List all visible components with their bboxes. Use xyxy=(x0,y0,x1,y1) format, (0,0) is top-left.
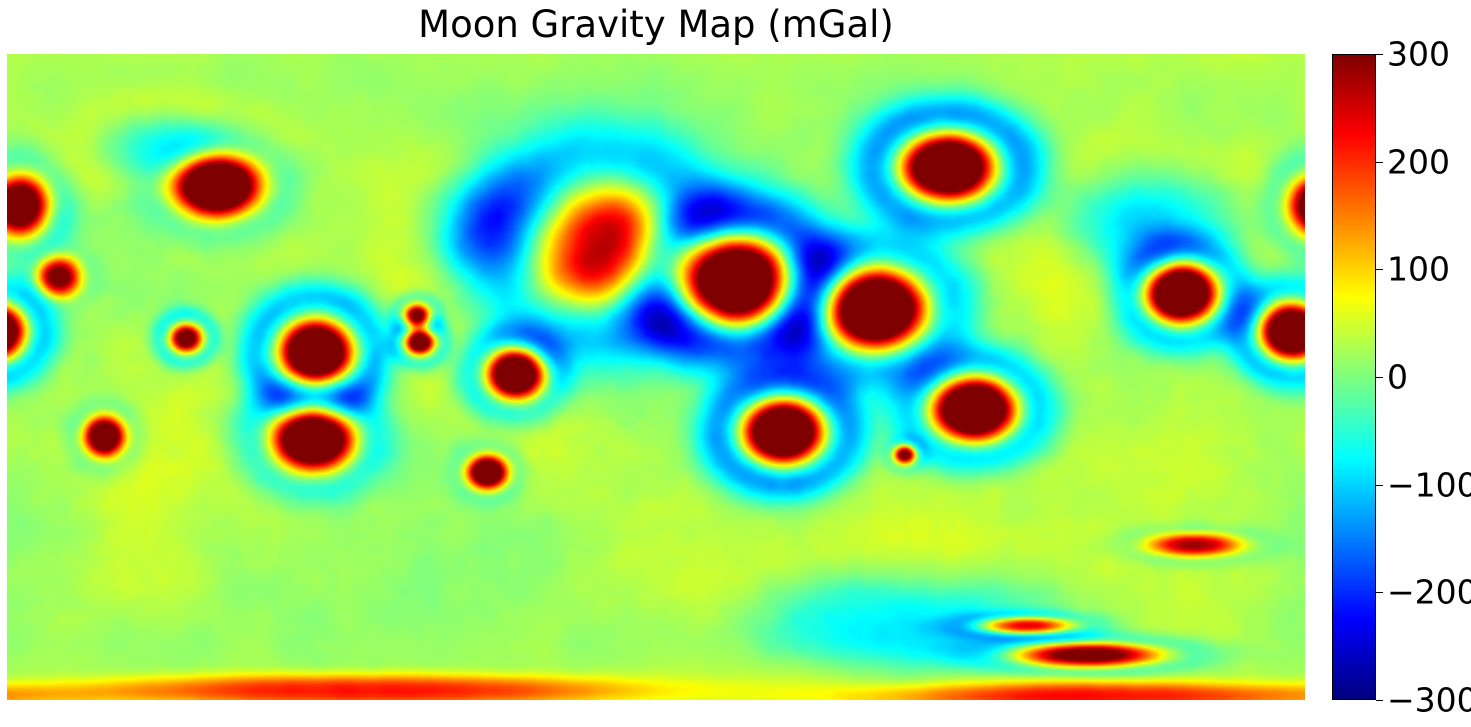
colorbar-tick-mark xyxy=(1376,269,1383,270)
moon-gravity-heatmap xyxy=(7,54,1305,700)
colorbar: 3002001000−100−200−300 xyxy=(1332,54,1376,700)
colorbar-tick-label: 300 xyxy=(1387,38,1450,71)
colorbar-tick-mark xyxy=(1376,485,1383,486)
colorbar-tick-mark xyxy=(1376,377,1383,378)
colorbar-tick-label: 100 xyxy=(1387,253,1450,286)
gravity-map-figure: Moon Gravity Map (mGal) 3002001000−100−2… xyxy=(0,0,1471,727)
colorbar-tick-mark xyxy=(1376,162,1383,163)
colorbar-tick-mark xyxy=(1376,54,1383,55)
colorbar-tick-label: 0 xyxy=(1387,361,1408,394)
colorbar-tick-mark xyxy=(1376,592,1383,593)
colorbar-tick-label: −100 xyxy=(1387,468,1471,501)
colorbar-tick-label: −200 xyxy=(1387,576,1471,609)
colorbar-tick-label: 200 xyxy=(1387,145,1450,178)
colorbar-tick-mark xyxy=(1376,700,1383,701)
map-image-panel xyxy=(7,54,1305,700)
page-title: Moon Gravity Map (mGal) xyxy=(0,0,1312,52)
colorbar-gradient xyxy=(1332,54,1376,700)
colorbar-tick-label: −300 xyxy=(1387,684,1471,717)
